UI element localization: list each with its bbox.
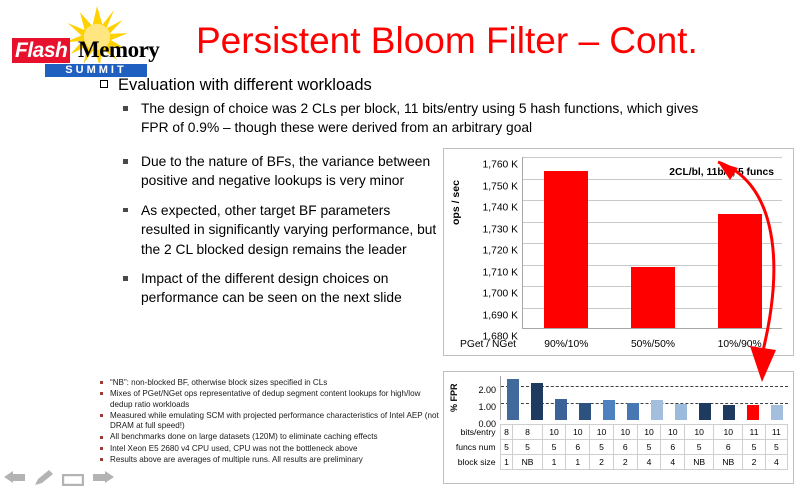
table-cell: 10 [566,425,590,440]
bar [747,405,759,420]
logo-memory-text: Memory [78,37,159,62]
square-bullet-icon [100,447,103,450]
bar [771,405,783,420]
table-cell: 2 [590,455,614,470]
footnote-text: Results above are averages of multiple r… [110,455,440,466]
logo-flash-text: Flash [12,38,70,63]
table-cell: 10 [590,425,614,440]
bullet-text: Due to the nature of BFs, the variance b… [141,152,441,191]
table-row-header: bits/entry [444,425,500,440]
table-cell: 4 [661,455,685,470]
square-bullet-icon [100,392,103,395]
hollow-square-bullet-icon [100,80,108,88]
table-row: funcs num555656565655 [444,440,788,455]
bar [627,403,639,420]
table-cell: 5 [685,440,714,455]
table-cell: 5 [542,440,566,455]
footnote-text: All benchmarks done on large datasets (1… [110,432,440,443]
y-tick-label: 1.00 [478,402,496,412]
bar [531,383,543,420]
footnote-text: “NB”: non-blocked BF, otherwise block si… [110,378,440,389]
bar [555,399,567,420]
table-row: block size1NB112244NBNB24 [444,455,788,470]
gridline [501,403,788,404]
y-tick-label: 1,750 K [483,181,519,192]
bullet-text: As expected, other target BF parameters … [141,201,441,259]
table-row: bits/entry8810101010101010101111 [444,425,788,440]
bar [675,404,687,420]
table-cell: 5 [765,440,787,455]
table-cell: 5 [743,440,765,455]
fpr-parameter-table: bits/entry8810101010101010101111funcs nu… [444,424,788,470]
square-bullet-icon [123,208,128,213]
y-tick-label: 1,710 K [483,267,519,278]
table-cell: 4 [765,455,787,470]
throughput-y-axis-label: ops / sec [450,180,462,225]
flash-memory-summit-logo: Flash Memory SUMMIT [6,6,184,78]
list-item: “NB”: non-blocked BF, otherwise block si… [100,378,440,389]
y-tick-label: 1,720 K [483,246,519,257]
slide: Flash Memory SUMMIT Persistent Bloom Fil… [0,0,800,493]
footnote-text: Measured while emulating SCM with projec… [110,411,440,432]
bar [544,171,588,328]
bullet-level2: The design of choice was 2 CLs per block… [123,99,723,137]
table-cell: 1 [500,455,513,470]
y-tick-label: 1,700 K [483,289,519,300]
table-cell: 10 [661,425,685,440]
list-item: Intel Xeon E5 2680 v4 CPU used, CPU was … [100,444,440,455]
throughput-y-ticks: 1,680 K1,690 K1,700 K1,710 K1,720 K1,730… [462,157,518,329]
previous-slide-icon[interactable] [4,470,26,489]
table-cell: 10 [714,425,743,440]
table-cell: 11 [743,425,765,440]
list-item: Results above are averages of multiple r… [100,455,440,466]
table-cell: 6 [566,440,590,455]
table-cell: 5 [590,440,614,455]
y-tick-label: 1,740 K [483,203,519,214]
table-cell: 2 [613,455,637,470]
bar [651,400,663,420]
table-cell: 6 [661,440,685,455]
list-item: Measured while emulating SCM with projec… [100,411,440,432]
table-cell: NB [513,455,542,470]
x-tick-label: 50%/50% [610,339,697,350]
throughput-x-axis-label: PGet / NGet [454,339,522,350]
bar [723,405,735,420]
bar [631,267,675,328]
x-tick-label: 90%/10% [523,339,610,350]
table-row-header: block size [444,455,500,470]
next-slide-icon[interactable] [92,470,114,489]
table-cell: NB [714,455,743,470]
table-cell: 4 [637,455,661,470]
list-item: Due to the nature of BFs, the variance b… [123,152,441,191]
table-cell: 11 [765,425,787,440]
square-bullet-icon [100,381,103,384]
callout-arrow-icon [700,150,795,400]
bar [699,403,711,420]
footnote-text: Intel Xeon E5 2680 v4 CPU used, CPU was … [110,444,440,455]
table-cell: 2 [743,455,765,470]
table-cell: 6 [613,440,637,455]
pen-tool-icon[interactable] [34,470,54,491]
table-row-header: funcs num [444,440,500,455]
footnote-text: Mixes of PGet/NGet ops representative of… [110,389,440,410]
table-cell: 8 [500,425,513,440]
slide-navigation-toolbar[interactable] [4,470,114,490]
y-tick-label: 1,760 K [483,160,519,171]
list-item: Impact of the different design choices o… [123,269,441,308]
y-tick-label: 1,690 K [483,310,519,321]
table-cell: 10 [637,425,661,440]
table-cell: NB [685,455,714,470]
bar [603,400,615,420]
table-cell: 10 [542,425,566,440]
footnote-list: “NB”: non-blocked BF, otherwise block si… [100,378,440,466]
y-tick-label: 2.00 [478,385,496,395]
square-bullet-icon [123,159,128,164]
y-tick-label: 1,730 K [483,224,519,235]
table-cell: 1 [542,455,566,470]
table-cell: 5 [513,440,542,455]
bar [507,379,519,420]
bullet-level3-list: Due to the nature of BFs, the variance b… [123,152,441,318]
square-bullet-icon [123,106,128,111]
page-title: Persistent Bloom Filter – Cont. [196,20,698,62]
square-bullet-icon [100,414,103,417]
table-cell: 6 [714,440,743,455]
bullet-level1: Evaluation with different workloads [100,76,372,95]
square-bullet-icon [123,276,128,281]
list-item: As expected, other target BF parameters … [123,201,441,259]
table-cell: 5 [637,440,661,455]
square-bullet-icon [100,436,103,439]
table-cell: 1 [566,455,590,470]
bullet-level2-text: The design of choice was 2 CLs per block… [141,99,723,137]
bullet-text: Impact of the different design choices o… [141,269,441,308]
square-bullet-icon [100,458,103,461]
table-cell: 5 [500,440,513,455]
slide-view-icon[interactable] [62,473,84,491]
table-cell: 10 [613,425,637,440]
table-cell: 8 [513,425,542,440]
bar [579,403,591,420]
fpr-y-ticks: 0.001.002.00 [458,376,496,420]
list-item: All benchmarks done on large datasets (1… [100,432,440,443]
table-cell: 10 [685,425,714,440]
bullet-level1-text: Evaluation with different workloads [118,76,372,94]
list-item: Mixes of PGet/NGet ops representative of… [100,389,440,410]
